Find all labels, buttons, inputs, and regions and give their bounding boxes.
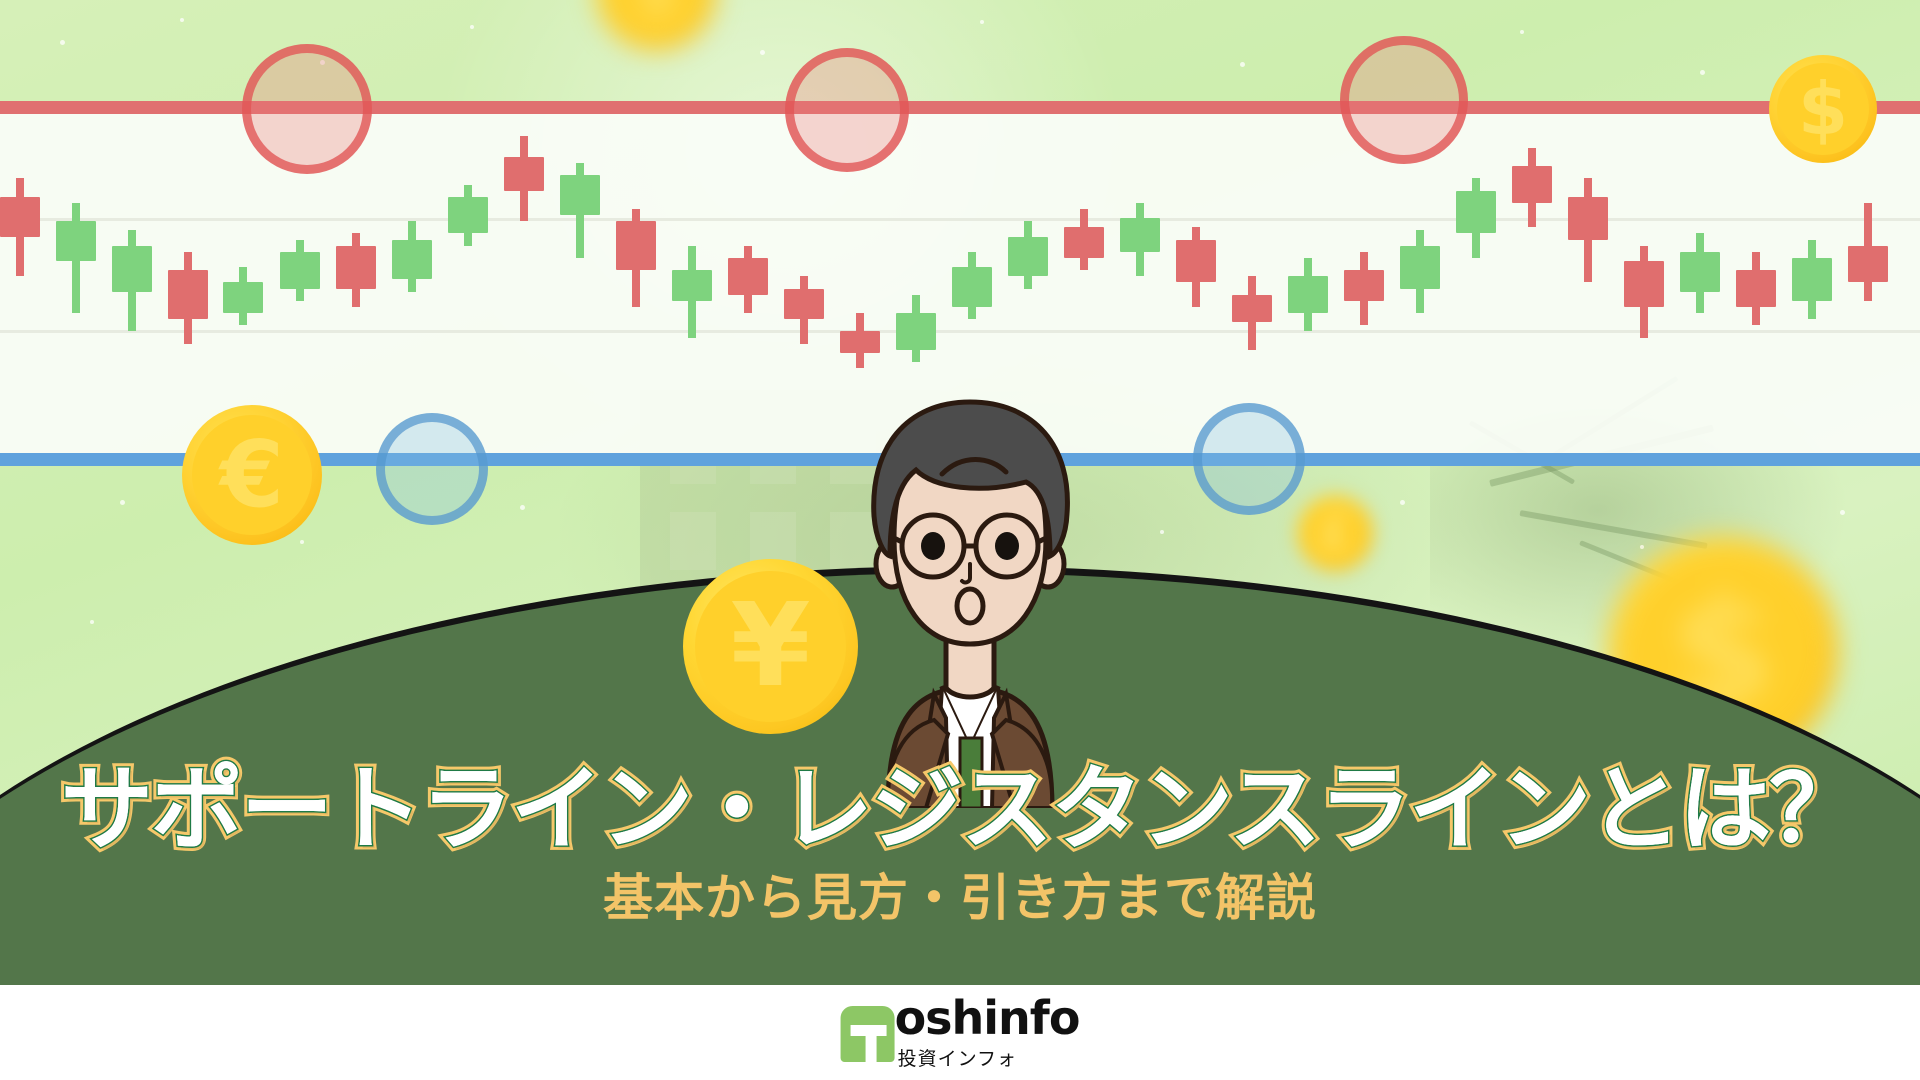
candle-body — [616, 221, 656, 270]
candle-body — [1232, 295, 1272, 323]
resistance-touch-marker — [242, 44, 372, 174]
candle-body — [1624, 261, 1664, 307]
candle-body — [1008, 237, 1048, 277]
candlestick — [1568, 178, 1608, 282]
candlestick — [1736, 252, 1776, 325]
candlestick — [448, 185, 488, 246]
candle-body — [392, 240, 432, 280]
page-subtitle: 基本から見方・引き方まで解説 — [0, 858, 1920, 930]
candlestick — [672, 246, 712, 338]
candlestick — [840, 313, 880, 368]
candlestick — [1120, 203, 1160, 276]
candlestick — [560, 163, 600, 258]
candle-body — [1848, 246, 1888, 283]
candlestick — [1288, 258, 1328, 331]
candlestick — [952, 252, 992, 319]
t-logo-icon — [841, 1006, 895, 1062]
candlestick — [728, 246, 768, 313]
candlestick — [1176, 227, 1216, 307]
candlestick — [1848, 203, 1888, 301]
candle-body — [1512, 166, 1552, 203]
candle-body — [1400, 246, 1440, 289]
yen-coin: ¥ — [683, 559, 858, 734]
candle-body — [1736, 270, 1776, 307]
candlestick — [168, 252, 208, 344]
candle-body — [672, 270, 712, 301]
candlestick — [336, 233, 376, 306]
candlestick — [784, 276, 824, 343]
candle-body — [1288, 276, 1328, 313]
candle-body — [840, 331, 880, 352]
candle-body — [56, 221, 96, 261]
logo-tagline: 投資インフォ — [898, 1044, 1080, 1071]
resistance-touch-marker — [1340, 36, 1468, 164]
support-touch-marker — [1193, 403, 1305, 515]
candlestick — [1344, 252, 1384, 325]
page-title: サポートライン・レジスタンスラインとは？ — [0, 735, 1920, 868]
candle-body — [1120, 218, 1160, 252]
candlestick — [1232, 276, 1272, 349]
euro-coin: € — [182, 405, 322, 545]
candle-body — [1680, 252, 1720, 292]
candle-body — [336, 246, 376, 289]
candlestick — [1064, 209, 1104, 270]
candlestick — [223, 267, 263, 325]
candle-body — [1456, 191, 1496, 234]
pound-coin: £ — [1297, 495, 1373, 571]
banner-image: $ $ € £ $ — [0, 0, 1920, 1080]
candle-body — [223, 282, 263, 313]
candlestick — [1680, 233, 1720, 313]
resistance-touch-marker — [785, 48, 909, 172]
candlestick — [1512, 148, 1552, 228]
dollar-coin: $ — [1769, 55, 1877, 163]
candlestick — [896, 295, 936, 362]
candle-body — [728, 258, 768, 295]
candlestick — [56, 203, 96, 313]
candle-body — [952, 267, 992, 307]
candle-body — [784, 289, 824, 320]
candle-body — [112, 246, 152, 292]
candlestick — [616, 209, 656, 307]
logo-name: oshinfo — [895, 997, 1080, 1041]
candle-body — [280, 252, 320, 289]
candlestick — [280, 240, 320, 301]
candlestick — [0, 178, 40, 276]
candle-body — [448, 197, 488, 234]
candlestick — [1400, 230, 1440, 313]
candlestick — [1008, 221, 1048, 288]
candle-body — [168, 270, 208, 319]
candlestick — [392, 221, 432, 291]
candlestick — [504, 136, 544, 222]
candle-body — [1176, 240, 1216, 283]
site-logo[interactable]: oshinfo 投資インフォ — [841, 997, 1080, 1071]
candlestick — [1624, 246, 1664, 338]
support-touch-marker — [376, 413, 488, 525]
candle-body — [1792, 258, 1832, 301]
candle-body — [504, 157, 544, 191]
candle-body — [1344, 270, 1384, 301]
candlestick — [1456, 178, 1496, 258]
candle-body — [1064, 227, 1104, 258]
candlestick — [112, 230, 152, 331]
candlestick — [1792, 240, 1832, 320]
candle-body — [1568, 197, 1608, 240]
candle-body — [560, 175, 600, 215]
candle-body — [896, 313, 936, 350]
candle-body — [0, 197, 40, 237]
